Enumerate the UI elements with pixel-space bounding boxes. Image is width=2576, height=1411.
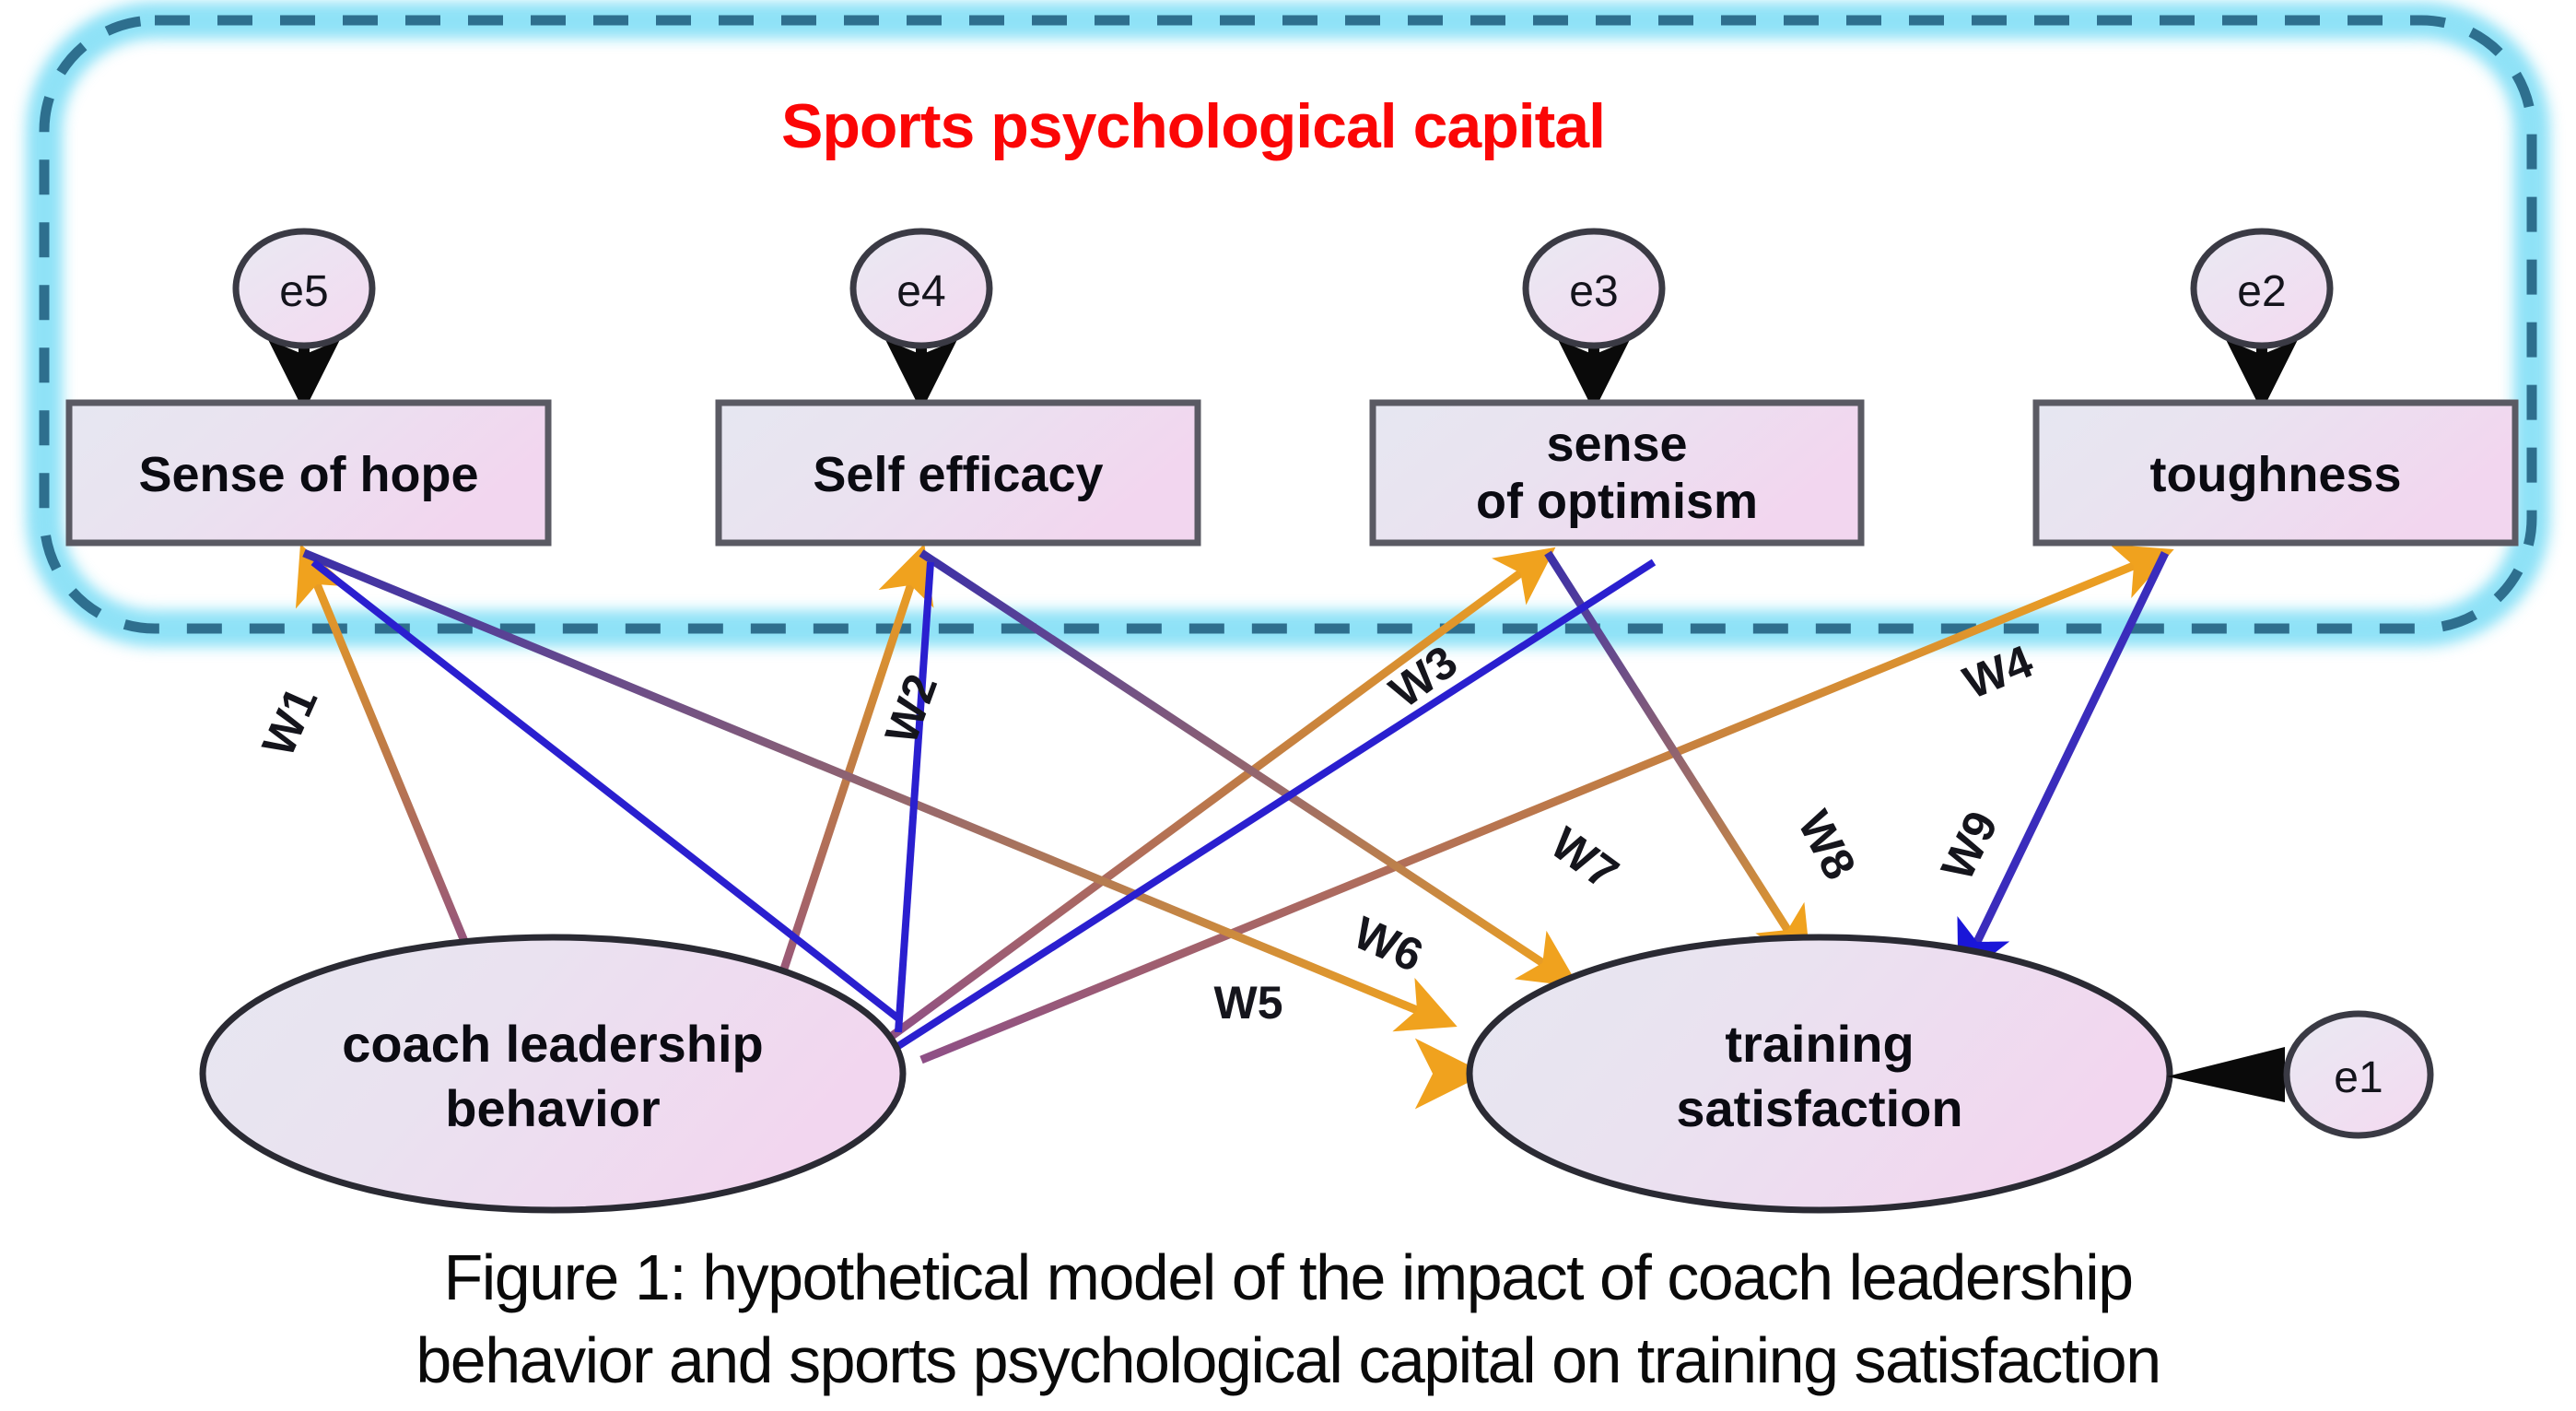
ellipse-label-coach-line1: coach leadership — [342, 1015, 764, 1073]
edge-w8 — [1548, 553, 1806, 958]
box-label-toughness: toughness — [2149, 447, 2401, 502]
error-label-e3: e3 — [1569, 267, 1618, 316]
box-label-sense-of-optimism-line2: of optimism — [1476, 474, 1758, 529]
caption-line-1: Figure 1: hypothetical model of the impa… — [443, 1241, 2132, 1313]
box-label-sense-of-hope: Sense of hope — [138, 447, 478, 502]
error-label-e5: e5 — [279, 267, 328, 316]
path-label-w6: W6 — [1346, 907, 1430, 982]
box-label-self-efficacy: Self efficacy — [813, 447, 1103, 502]
observed-boxes: Sense of hope Self efficacy sense of opt… — [69, 403, 2515, 543]
error-label-e4: e4 — [896, 267, 945, 316]
figure-canvas: Sports psychological capital W1 W2 W3 W4 — [0, 0, 2576, 1411]
path-label-w1: W1 — [252, 679, 328, 763]
path-label-w4: W4 — [1956, 635, 2040, 709]
error-term-e1-group: e1 — [2167, 1014, 2430, 1135]
path-label-w5: W5 — [1214, 977, 1283, 1029]
sem-diagram: Sports psychological capital W1 W2 W3 W4 — [0, 0, 2576, 1411]
ellipse-label-coach-line2: behavior — [445, 1079, 660, 1137]
box-label-sense-of-optimism-line1: sense — [1546, 417, 1687, 472]
caption-line-2: behavior and sports psychological capita… — [416, 1324, 2160, 1396]
path-label-w7: W7 — [1541, 817, 1628, 900]
path-label-w2: W2 — [875, 667, 947, 750]
path-label-w9: W9 — [1931, 804, 2008, 888]
ellipse-coach-leadership-behavior — [203, 937, 903, 1210]
ellipse-training-satisfaction — [1469, 937, 2170, 1210]
ellipse-label-training-line2: satisfaction — [1676, 1079, 1962, 1137]
error-label-e2: e2 — [2237, 267, 2286, 316]
path-label-w8: W8 — [1788, 803, 1867, 888]
error-label-e1: e1 — [2334, 1053, 2383, 1102]
group-title: Sports psychological capital — [781, 91, 1605, 161]
ellipse-label-training-line1: training — [1725, 1015, 1914, 1073]
edge-e1-training — [2167, 1047, 2285, 1102]
error-terms: e5 e4 e3 e2 — [236, 231, 2330, 406]
path-label-w3: W3 — [1380, 636, 1467, 718]
